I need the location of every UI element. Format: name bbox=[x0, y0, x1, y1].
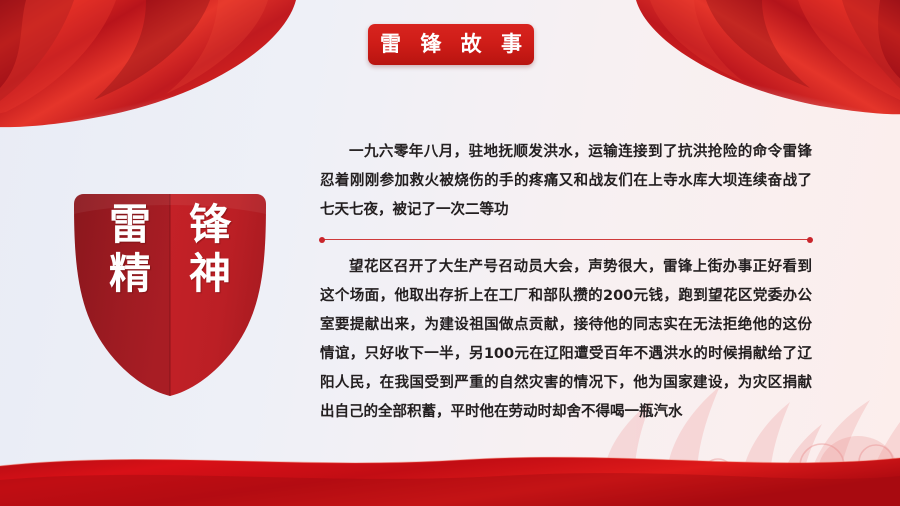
silk-drape-top-right-decoration bbox=[584, 0, 900, 132]
shield-right-column: 锋 神 bbox=[174, 204, 246, 296]
red-wave-ribbon-decoration bbox=[0, 436, 900, 506]
slide-title-badge: 雷 锋 故 事 bbox=[368, 24, 534, 65]
shield-char-shen: 神 bbox=[189, 253, 231, 296]
shield-char-jing: 精 bbox=[109, 253, 151, 296]
paragraph-divider bbox=[320, 239, 812, 240]
shield-char-feng: 锋 bbox=[189, 204, 231, 247]
slide-canvas: 雷 锋 故 事 bbox=[0, 0, 900, 506]
story-paragraph-1: 一九六零年八月，驻地抚顺发洪水，运输连接到了抗洪抢险的命令雷锋忍着刚刚参加救火被… bbox=[320, 138, 812, 225]
slide-title-text: 雷 锋 故 事 bbox=[374, 34, 528, 55]
divider-dot-left-icon bbox=[319, 237, 325, 243]
shield-char-lei: 雷 bbox=[109, 204, 151, 247]
lei-feng-spirit-shield-emblem: 雷 精 锋 神 bbox=[70, 188, 270, 398]
divider-dot-right-icon bbox=[807, 237, 813, 243]
silk-drape-top-left-decoration bbox=[0, 0, 356, 150]
story-content-block: 一九六零年八月，驻地抚顺发洪水，运输连接到了抗洪抢险的命令雷锋忍着刚刚参加救火被… bbox=[320, 138, 812, 427]
shield-left-column: 雷 精 bbox=[94, 204, 166, 296]
story-paragraph-2: 望花区召开了大生产号召动员大会，声势很大，雷锋上街办事正好看到这个场面，他取出存… bbox=[320, 253, 812, 427]
shield-character-layer: 雷 精 锋 神 bbox=[70, 188, 270, 398]
